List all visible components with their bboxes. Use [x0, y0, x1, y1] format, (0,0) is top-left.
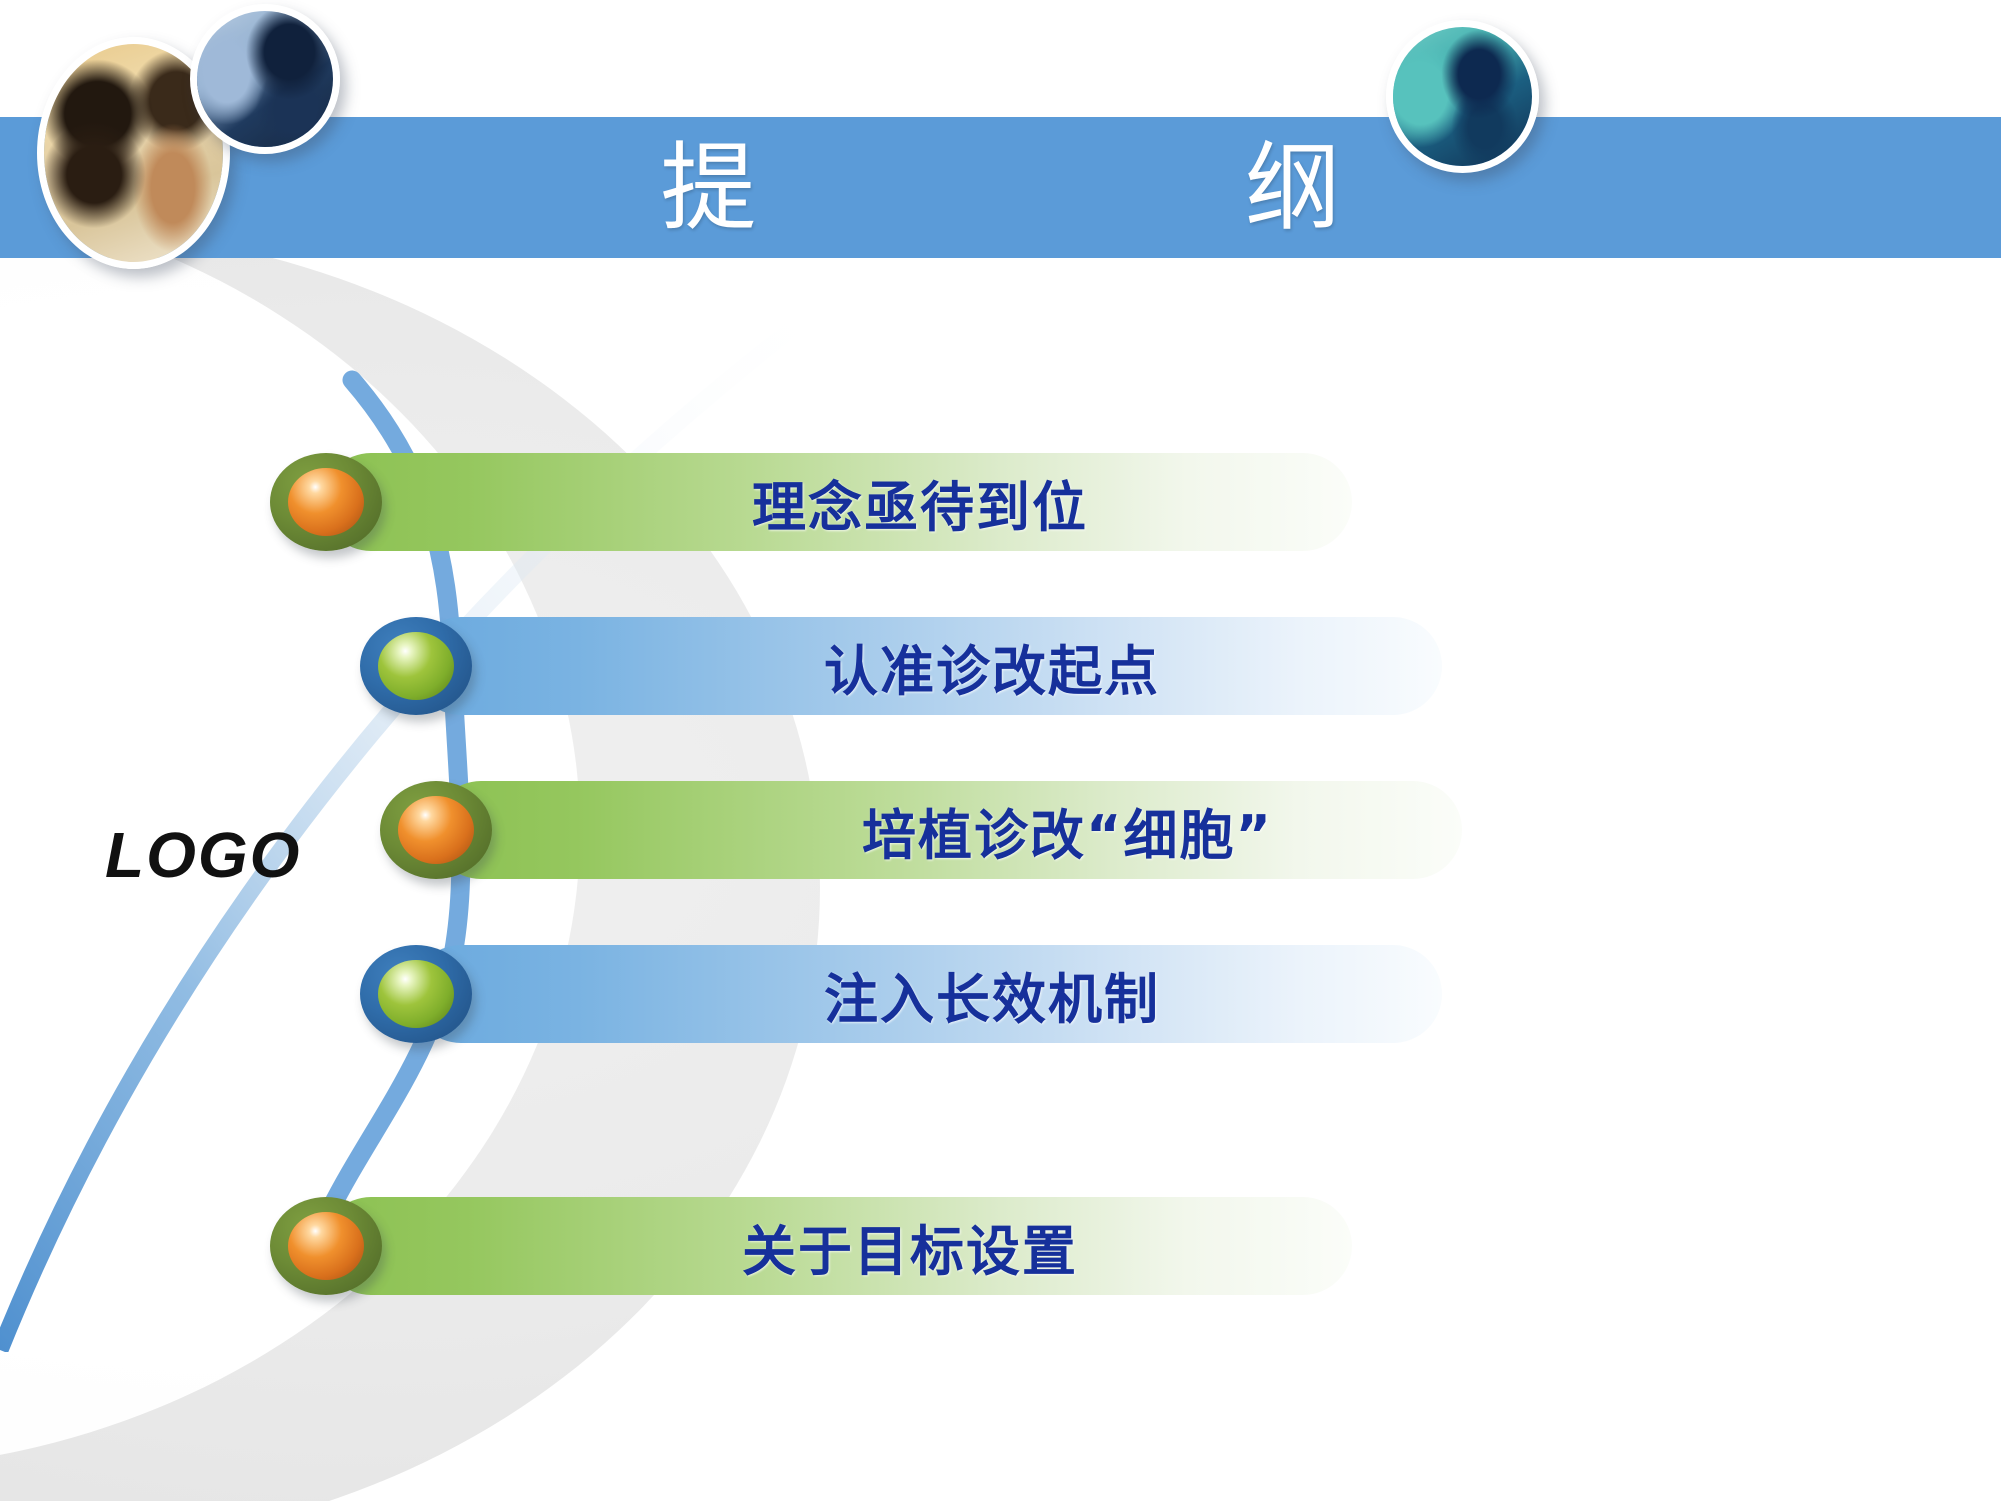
outline-item-bar: 认准诊改起点 — [412, 617, 1442, 715]
bullet-sphere-icon — [378, 960, 454, 1028]
outline-item-bullet — [270, 1197, 382, 1295]
slide-canvas: 提 纲 理念亟待到位认准诊改起点培植诊改“细胞”注入长效机制关于目标设置 LOG… — [0, 0, 2001, 1501]
outline-item-bullet — [380, 781, 492, 879]
bullet-sphere-icon — [288, 1212, 364, 1280]
outline-item-bullet — [270, 453, 382, 551]
outline-item-bullet — [360, 617, 472, 715]
outline-item[interactable]: 培植诊改“细胞” — [432, 781, 1462, 879]
outline-item-label: 注入长效机制 — [824, 955, 1160, 1034]
outline-item-label: 理念亟待到位 — [752, 463, 1088, 542]
bullet-sphere-icon — [288, 468, 364, 536]
outline-item-bar: 培植诊改“细胞” — [432, 781, 1462, 879]
logo-text: LOGO — [105, 818, 301, 892]
outline-item[interactable]: 关于目标设置 — [322, 1197, 1352, 1295]
outline-item-label: 培植诊改“细胞” — [862, 791, 1273, 870]
outline-item-bar: 关于目标设置 — [322, 1197, 1352, 1295]
outline-item-label: 认准诊改起点 — [824, 627, 1160, 706]
bullet-sphere-icon — [378, 632, 454, 700]
bullet-sphere-icon — [398, 796, 474, 864]
outline-item[interactable]: 注入长效机制 — [412, 945, 1442, 1043]
outline-item-bar: 理念亟待到位 — [322, 453, 1352, 551]
outline-item-label: 关于目标设置 — [742, 1207, 1078, 1286]
outline-item-bullet — [360, 945, 472, 1043]
outline-item[interactable]: 认准诊改起点 — [412, 617, 1442, 715]
outline-item-bar: 注入长效机制 — [412, 945, 1442, 1043]
outline-item[interactable]: 理念亟待到位 — [322, 453, 1352, 551]
